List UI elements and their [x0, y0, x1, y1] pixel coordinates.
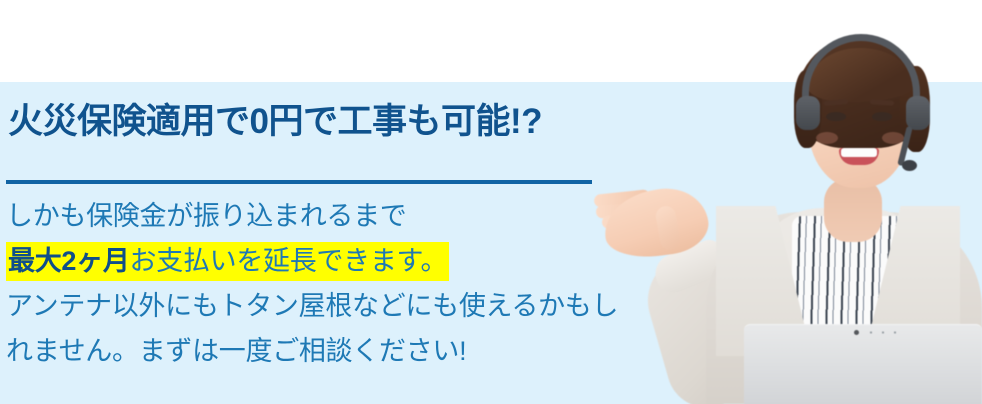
page-title: 火災保険適用で0円で工事も可能!? — [8, 100, 542, 144]
cheek — [882, 132, 904, 144]
body-line-2: 最大2ヶ月お支払いを延長できます。 — [6, 239, 606, 284]
laptop-dots — [868, 331, 902, 334]
eye — [826, 112, 846, 121]
insurance-promo-banner: 火災保険適用で0円で工事も可能!? しかも保険金が振り込まれるまで 最大2ヶ月お… — [0, 0, 982, 404]
headset-earcup-icon — [906, 96, 930, 130]
body-line-1: しかも保険金が振り込まれるまで — [6, 194, 606, 239]
eye — [872, 112, 892, 121]
laptop-camera-icon — [854, 330, 859, 335]
highlight-strong-text: 最大2ヶ月 — [8, 246, 130, 276]
body-line-4: れません。まずは一度ご相談ください! — [6, 329, 606, 374]
headset-band-icon — [802, 34, 920, 108]
title-divider — [6, 180, 592, 184]
body-line-3: アンテナ以外にもトタン屋根などにも使えるかもし — [6, 284, 606, 329]
teeth — [841, 148, 877, 157]
body-copy: しかも保険金が振り込まれるまで 最大2ヶ月お支払いを延長できます。 アンテナ以外… — [6, 194, 606, 374]
operator-photo — [596, 0, 982, 404]
highlight-rest-text: お支払いを延長できます。 — [130, 246, 448, 276]
copy-column: 火災保険適用で0円で工事も可能!? しかも保険金が振り込まれるまで 最大2ヶ月お… — [0, 82, 620, 404]
cheek — [816, 132, 838, 144]
headset-mic-icon — [902, 160, 917, 171]
laptop-icon — [744, 324, 982, 404]
headset-earcup-icon — [796, 96, 820, 130]
